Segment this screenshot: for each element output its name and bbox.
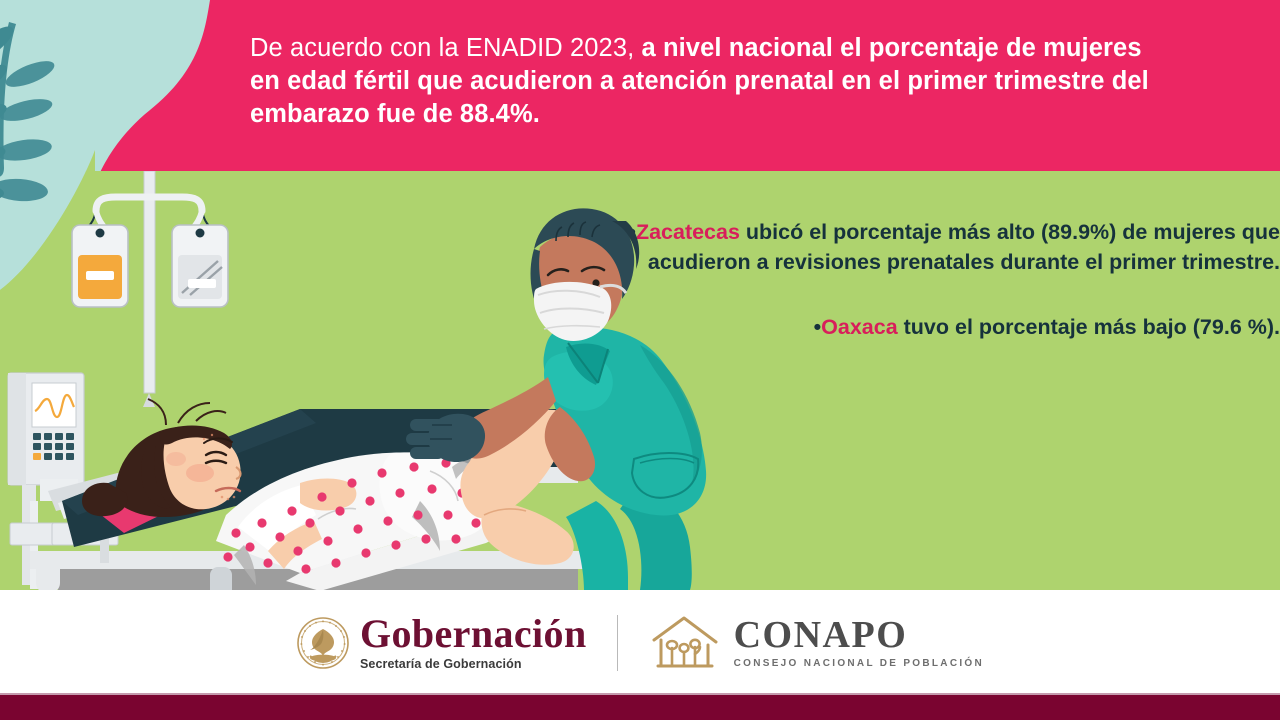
conapo-logo[interactable]: CONAPO CONSEJO NACIONAL DE POBLACIÓN (648, 614, 984, 672)
footer-logos: Gobernación Secretaría de Gobernación (0, 590, 1280, 695)
conapo-subtitle: CONSEJO NACIONAL DE POBLACIÓN (734, 659, 984, 669)
bottom-maroon-bar (0, 695, 1280, 720)
iv-bag-orange-icon (72, 225, 128, 307)
logo-divider (617, 615, 618, 671)
gobernacion-title: Gobernación (360, 614, 587, 654)
state-name-oaxaca: Oaxaca (821, 315, 898, 339)
gobernacion-logo[interactable]: Gobernación Secretaría de Gobernación (296, 614, 587, 671)
house-with-people-icon (648, 614, 722, 672)
mexican-eagle-seal-icon (296, 616, 350, 670)
headline-regular: De acuerdo con la ENADID 2023, (250, 34, 634, 62)
infographic-canvas: De acuerdo con la ENADID 2023, a nivel n… (0, 0, 1280, 720)
iv-bag-gray-icon (172, 225, 228, 307)
conapo-title: CONAPO (734, 616, 984, 654)
bullet-marker: • (814, 315, 822, 339)
gobernacion-subtitle: Secretaría de Gobernación (360, 658, 587, 671)
medical-illustration (0, 171, 800, 590)
bullet-body-text: tuvo el porcentaje más bajo (79.6 %). (898, 315, 1280, 339)
headline-text: De acuerdo con la ENADID 2023, a nivel n… (250, 32, 1150, 131)
